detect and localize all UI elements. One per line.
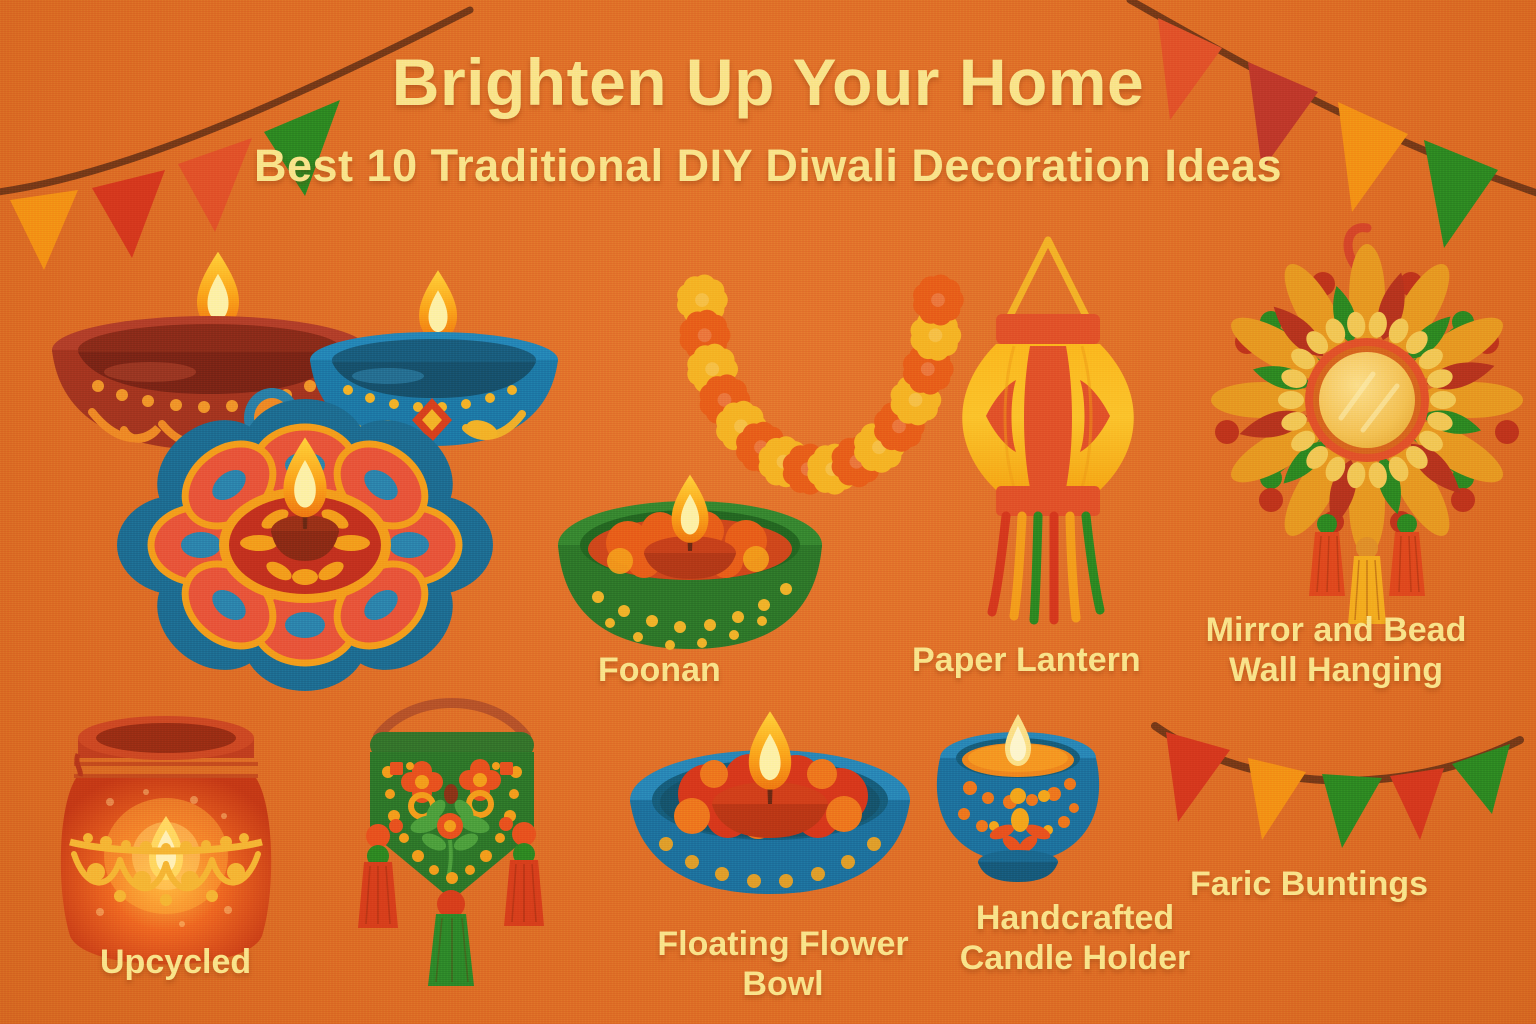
candle-holder	[937, 714, 1099, 882]
caption-handcrafted-candle-holder: Handcrafted Candle Holder	[930, 898, 1220, 978]
page-title: Brighten Up Your Home	[0, 46, 1536, 118]
caption-floating-flower-bowl: Floating Flower Bowl	[638, 924, 928, 1004]
flower-bowl-green	[558, 475, 822, 650]
mirror-wall-hanging	[1211, 228, 1523, 624]
caption-foonan: Foonan	[598, 650, 721, 690]
marigold-garland	[677, 275, 964, 495]
caption-fabric-buntings: Faric Buntings	[1190, 864, 1428, 904]
floating-flower-bowl	[630, 711, 910, 894]
paper-lantern	[962, 240, 1134, 620]
caption-upcycled: Upcycled	[100, 942, 251, 982]
green-toran	[358, 703, 544, 986]
page-subtitle: Best 10 Traditional DIY Diwali Decoratio…	[0, 140, 1536, 192]
upcycled-jar	[61, 716, 271, 965]
bunting-bottom-right	[1155, 726, 1520, 848]
bunting-top-right	[1130, 0, 1536, 248]
caption-paper-lantern: Paper Lantern	[912, 640, 1141, 680]
caption-mirror-wall-hanging: Mirror and Bead Wall Hanging	[1186, 610, 1486, 690]
poster-canvas: Brighten Up Your Home Best 10 Traditiona…	[0, 0, 1536, 1024]
